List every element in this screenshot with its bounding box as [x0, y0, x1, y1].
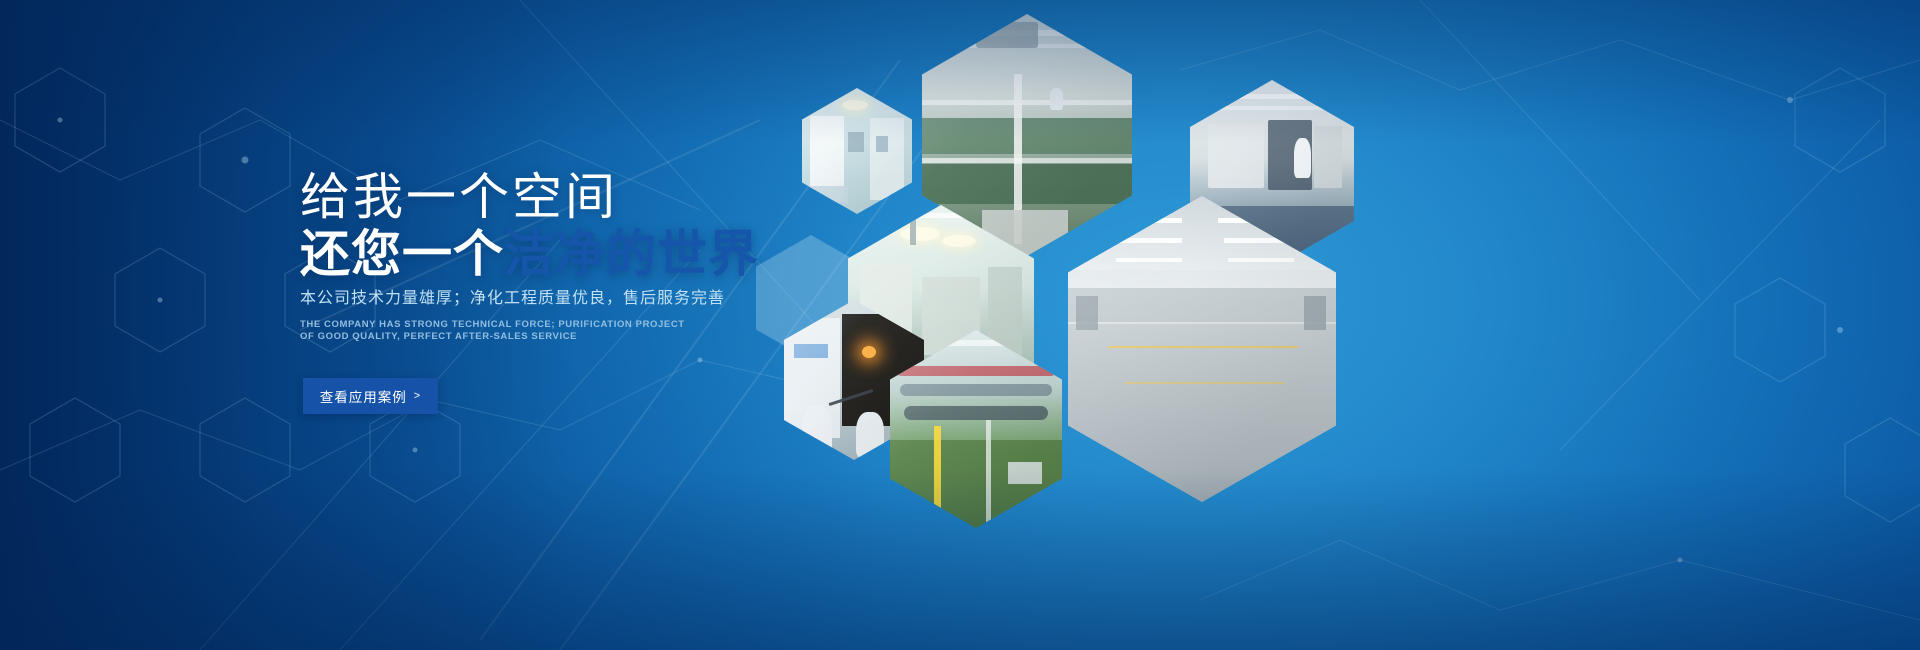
- headline-line-2-white: 还您一个: [300, 226, 504, 282]
- hexagon-image-cluster: [780, 0, 1920, 650]
- hero-banner: 给我一个空间 还您一个洁净的世界 本公司技术力量雄厚；净化工程质量优良，售后服务…: [0, 0, 1920, 650]
- view-cases-button-label: 查看应用案例: [320, 386, 407, 406]
- chevron-right-icon: >: [414, 390, 421, 402]
- banner-english-line-1: THE COMPANY HAS STRONG TECHNICAL FORCE; …: [300, 319, 685, 331]
- banner-english-line-2: OF GOOD QUALITY, PERFECT AFTER-SALES SER…: [300, 331, 577, 343]
- hex-cleanroom-corridor[interactable]: [802, 88, 912, 214]
- headline-line-2-blue: 洁净的世界: [504, 226, 759, 282]
- view-cases-button[interactable]: 查看应用案例 >: [303, 378, 438, 414]
- headline-line-1: 给我一个空间: [300, 170, 618, 224]
- headline-line-2: 还您一个洁净的世界: [300, 226, 759, 282]
- banner-subtitle: 本公司技术力量雄厚；净化工程质量优良，售后服务完善: [300, 288, 725, 310]
